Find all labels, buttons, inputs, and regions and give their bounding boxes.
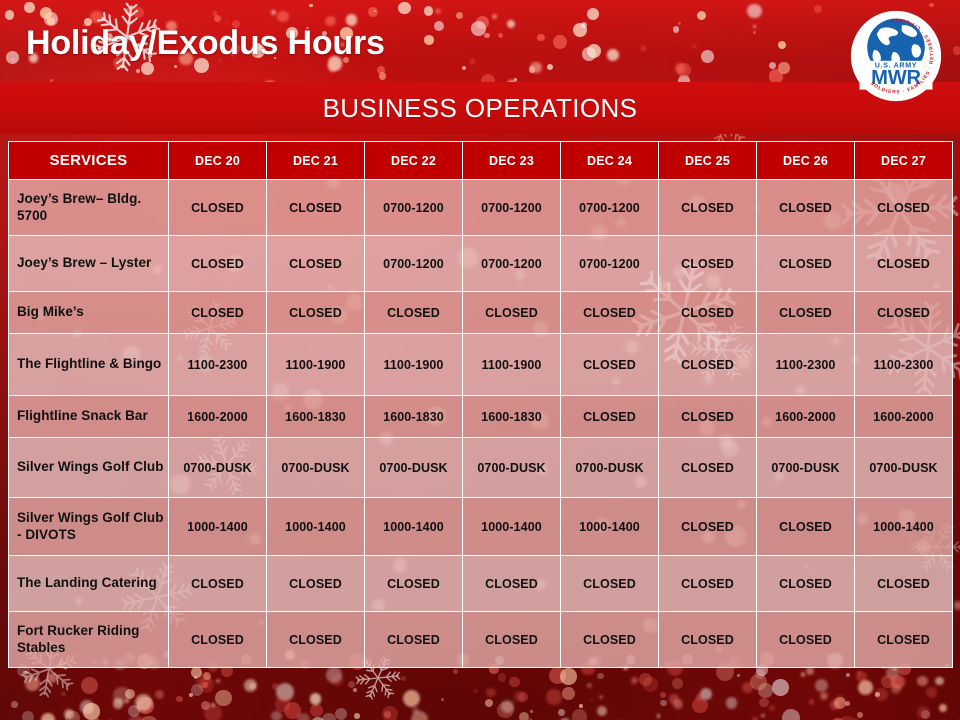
hours-cell: 0700-DUSK (365, 438, 463, 498)
hours-cell: 0700-1200 (365, 236, 463, 292)
table-head: SERVICES DEC 20 DEC 21 DEC 22 DEC 23 DEC… (9, 142, 953, 180)
hours-cell: CLOSED (365, 612, 463, 668)
hours-cell: 0700-DUSK (169, 438, 267, 498)
hours-cell: 0700-DUSK (561, 438, 659, 498)
service-name-cell: Silver Wings Golf Club - DIVOTS (9, 498, 169, 556)
table-header-row: SERVICES DEC 20 DEC 21 DEC 22 DEC 23 DEC… (9, 142, 953, 180)
hours-cell: 1100-1900 (365, 334, 463, 396)
hours-cell: CLOSED (463, 556, 561, 612)
hours-cell: CLOSED (757, 236, 855, 292)
hours-cell: 0700-DUSK (463, 438, 561, 498)
table-row: The Flightline & Bingo1100-23001100-1900… (9, 334, 953, 396)
table-body: Joey’s Brew– Bldg. 5700CLOSEDCLOSED0700-… (9, 180, 953, 668)
hours-cell: CLOSED (659, 180, 757, 236)
hours-cell: 1000-1400 (267, 498, 365, 556)
hours-table-wrapper: SERVICES DEC 20 DEC 21 DEC 22 DEC 23 DEC… (8, 141, 952, 668)
hours-cell: 1600-1830 (365, 396, 463, 438)
hours-cell: CLOSED (267, 236, 365, 292)
hours-cell: CLOSED (757, 612, 855, 668)
table-row: Silver Wings Golf Club - DIVOTS1000-1400… (9, 498, 953, 556)
column-header-dec-21: DEC 21 (267, 142, 365, 180)
hours-cell: CLOSED (561, 556, 659, 612)
column-header-services: SERVICES (9, 142, 169, 180)
hours-cell: CLOSED (365, 292, 463, 334)
hours-cell: CLOSED (169, 180, 267, 236)
hours-cell: CLOSED (463, 612, 561, 668)
hours-cell: CLOSED (659, 236, 757, 292)
column-header-dec-26: DEC 26 (757, 142, 855, 180)
hours-cell: CLOSED (659, 334, 757, 396)
hours-cell: CLOSED (561, 334, 659, 396)
page-title: Holiday/Exodus Hours (26, 24, 385, 63)
column-header-dec-25: DEC 25 (659, 142, 757, 180)
service-name-cell: Flightline Snack Bar (9, 396, 169, 438)
hours-cell: 1100-2300 (757, 334, 855, 396)
service-name-cell: Big Mike’s (9, 292, 169, 334)
hours-cell: 1000-1400 (561, 498, 659, 556)
hours-cell: 1000-1400 (463, 498, 561, 556)
column-header-dec-20: DEC 20 (169, 142, 267, 180)
hours-cell: CLOSED (659, 612, 757, 668)
hours-cell: CLOSED (169, 612, 267, 668)
hours-cell: CLOSED (267, 612, 365, 668)
hours-cell: 1600-1830 (267, 396, 365, 438)
hours-cell: 1100-1900 (463, 334, 561, 396)
hours-cell: CLOSED (169, 556, 267, 612)
service-name-cell: Joey’s Brew– Bldg. 5700 (9, 180, 169, 236)
hours-cell: CLOSED (267, 292, 365, 334)
hours-cell: 0700-DUSK (855, 438, 953, 498)
hours-cell: CLOSED (561, 396, 659, 438)
hours-cell: 1000-1400 (169, 498, 267, 556)
hours-cell: CLOSED (267, 180, 365, 236)
service-name-cell: Joey’s Brew – Lyster (9, 236, 169, 292)
service-name-cell: Fort Rucker Riding Stables (9, 612, 169, 668)
hours-cell: CLOSED (169, 236, 267, 292)
table-row: Joey’s Brew – LysterCLOSEDCLOSED0700-120… (9, 236, 953, 292)
hours-cell: CLOSED (855, 180, 953, 236)
hours-cell: 1600-1830 (463, 396, 561, 438)
subtitle-band: BUSINESS OPERATIONS (0, 82, 960, 134)
hours-cell: 0700-DUSK (757, 438, 855, 498)
hours-cell: CLOSED (855, 612, 953, 668)
hours-cell: CLOSED (757, 498, 855, 556)
column-header-dec-27: DEC 27 (855, 142, 953, 180)
table-row: Fort Rucker Riding StablesCLOSEDCLOSEDCL… (9, 612, 953, 668)
hours-cell: CLOSED (855, 292, 953, 334)
table-row: Silver Wings Golf Club0700-DUSK0700-DUSK… (9, 438, 953, 498)
hours-table: SERVICES DEC 20 DEC 21 DEC 22 DEC 23 DEC… (8, 141, 953, 668)
hours-cell: CLOSED (855, 236, 953, 292)
hours-cell: 1000-1400 (855, 498, 953, 556)
hours-cell: 0700-1200 (561, 236, 659, 292)
hours-cell: 1100-2300 (855, 334, 953, 396)
hours-cell: 0700-1200 (365, 180, 463, 236)
column-header-dec-24: DEC 24 (561, 142, 659, 180)
hours-cell: CLOSED (267, 556, 365, 612)
hours-cell: CLOSED (463, 292, 561, 334)
column-header-dec-22: DEC 22 (365, 142, 463, 180)
hours-cell: 1600-2000 (169, 396, 267, 438)
hours-cell: CLOSED (561, 612, 659, 668)
hours-cell: 1100-1900 (267, 334, 365, 396)
hours-cell: CLOSED (855, 556, 953, 612)
hours-cell: CLOSED (659, 292, 757, 334)
hours-cell: 0700-1200 (463, 236, 561, 292)
table-row: Flightline Snack Bar1600-20001600-183016… (9, 396, 953, 438)
table-row: Big Mike’sCLOSEDCLOSEDCLOSEDCLOSEDCLOSED… (9, 292, 953, 334)
hours-cell: CLOSED (561, 292, 659, 334)
hours-cell: CLOSED (757, 292, 855, 334)
hours-cell: 1600-2000 (757, 396, 855, 438)
hours-cell: 0700-DUSK (267, 438, 365, 498)
hours-cell: CLOSED (757, 180, 855, 236)
hours-cell: 0700-1200 (463, 180, 561, 236)
slide: BUSINESS OPERATIONS Holiday/Exodus Hours (0, 0, 960, 720)
service-name-cell: Silver Wings Golf Club (9, 438, 169, 498)
hours-cell: 1600-2000 (855, 396, 953, 438)
hours-cell: 1100-2300 (169, 334, 267, 396)
hours-cell: CLOSED (659, 498, 757, 556)
hours-cell: CLOSED (757, 556, 855, 612)
service-name-cell: The Flightline & Bingo (9, 334, 169, 396)
hours-cell: 1000-1400 (365, 498, 463, 556)
service-name-cell: The Landing Catering (9, 556, 169, 612)
subtitle-text: BUSINESS OPERATIONS (323, 93, 638, 124)
hours-cell: 0700-1200 (561, 180, 659, 236)
hours-cell: CLOSED (659, 556, 757, 612)
hours-cell: CLOSED (169, 292, 267, 334)
table-row: Joey’s Brew– Bldg. 5700CLOSEDCLOSED0700-… (9, 180, 953, 236)
us-army-mwr-logo: U.S. ARMY MWR SOLDIERS · FAMILIES · RETI… (848, 8, 944, 104)
table-row: The Landing CateringCLOSEDCLOSEDCLOSEDCL… (9, 556, 953, 612)
hours-cell: CLOSED (365, 556, 463, 612)
column-header-dec-23: DEC 23 (463, 142, 561, 180)
hours-cell: CLOSED (659, 396, 757, 438)
hours-cell: CLOSED (659, 438, 757, 498)
